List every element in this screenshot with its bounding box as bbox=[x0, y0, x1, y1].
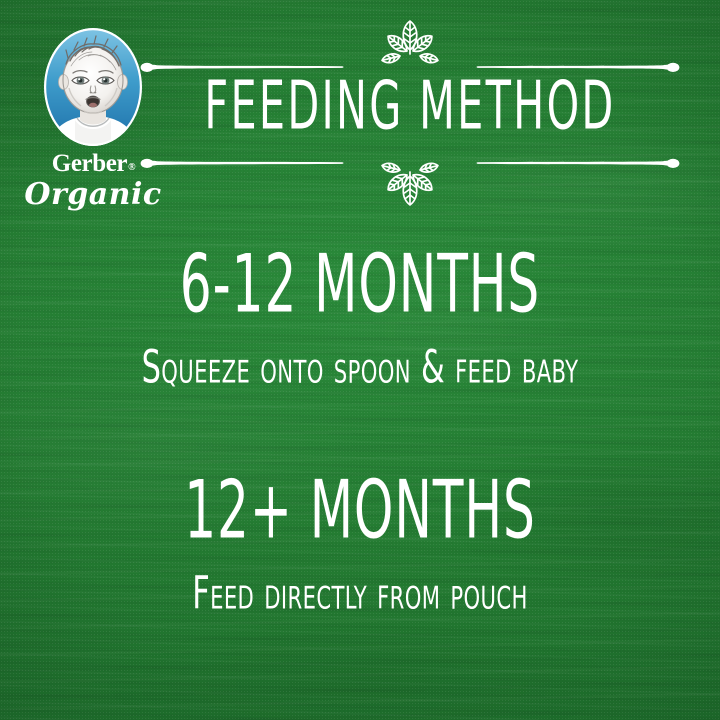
rule-right-lower bbox=[475, 150, 680, 174]
registered-mark-icon: ® bbox=[128, 162, 135, 173]
gerber-baby-icon bbox=[44, 28, 142, 146]
feeding-method-panel: Gerber® Organic bbox=[0, 0, 720, 720]
page-title: FEEDING METHOD bbox=[162, 72, 659, 139]
rule-left-lower bbox=[140, 150, 345, 174]
section-subline: Squeeze onto spoon & feed baby bbox=[22, 346, 699, 391]
feeding-section-6-12-months: 6-12 MONTHS Squeeze onto spoon & feed ba… bbox=[0, 244, 720, 382]
feeding-section-12-plus-months: 12+ MONTHS Feed directly from pouch bbox=[0, 470, 720, 608]
header-block: FEEDING METHOD bbox=[140, 26, 680, 196]
section-subline: Feed directly from pouch bbox=[22, 572, 699, 617]
leaf-ornament-bottom bbox=[354, 150, 466, 174]
section-headline: 12+ MONTHS bbox=[36, 470, 684, 551]
section-headline: 6-12 MONTHS bbox=[36, 244, 684, 325]
brand-name: Gerber bbox=[52, 150, 127, 177]
bottom-rule-row bbox=[140, 150, 680, 174]
